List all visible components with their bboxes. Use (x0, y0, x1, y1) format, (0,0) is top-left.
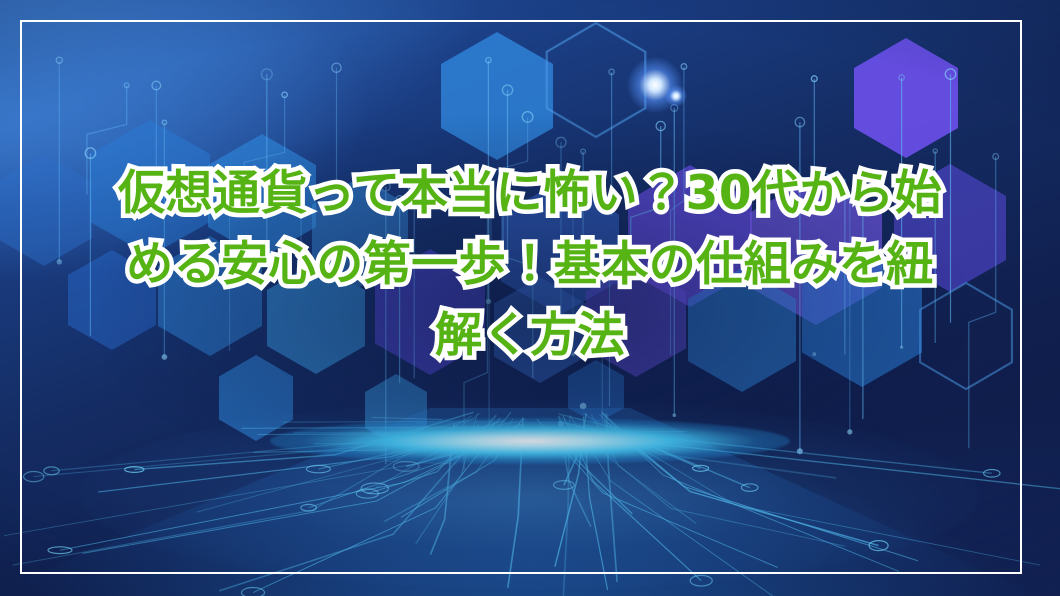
eyecatch-image: 仮想通貨って本当に怖い？30代から始 める安心の第一歩！基本の仕組みを紐 解く方… (0, 0, 1060, 596)
title-line-2: める安心の第一歩！基本の仕組みを紐 (60, 229, 1000, 300)
title-block: 仮想通貨って本当に怖い？30代から始 める安心の第一歩！基本の仕組みを紐 解く方… (0, 158, 1060, 371)
title-line-3: 解く方法 (60, 300, 1000, 371)
title-line-1: 仮想通貨って本当に怖い？30代から始 (60, 158, 1000, 229)
